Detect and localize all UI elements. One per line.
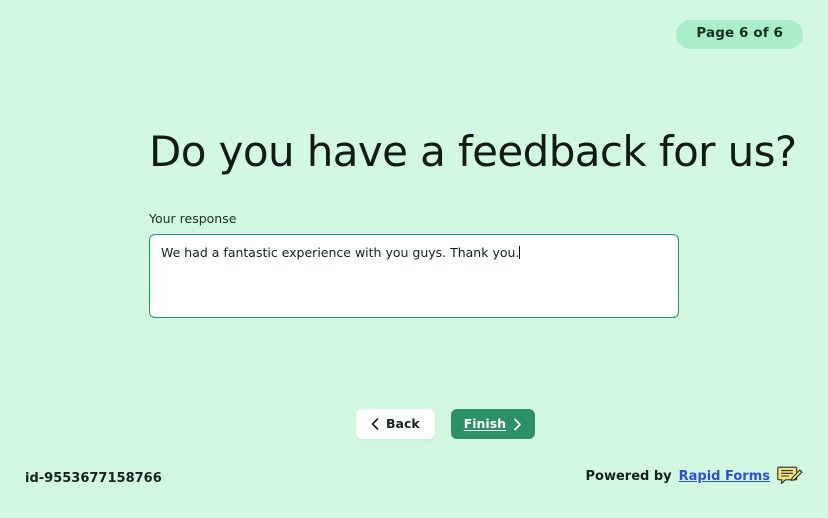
chevron-right-icon (513, 418, 522, 431)
response-textarea[interactable]: We had a fantastic experience with you g… (149, 234, 679, 318)
chevron-left-icon (371, 418, 379, 430)
page-indicator-badge: Page 6 of 6 (676, 20, 803, 49)
finish-button[interactable]: Finish (451, 409, 535, 439)
form-content: Do you have a feedback for us? Your resp… (149, 128, 679, 318)
form-id-text: id-9553677158766 (25, 472, 162, 485)
response-field-group: Your response We had a fantastic experie… (149, 213, 679, 318)
rapid-forms-link[interactable]: Rapid Forms (679, 470, 770, 483)
text-caret (519, 246, 520, 259)
footer-branding: Powered by Rapid Forms (586, 464, 803, 488)
page-title: Do you have a feedback for us? (149, 128, 679, 175)
back-button[interactable]: Back (356, 409, 435, 439)
finish-button-label: Finish (464, 418, 506, 431)
wizard-nav: Back Finish (356, 409, 535, 439)
speech-bubble-pencil-icon (777, 464, 803, 488)
response-field-label: Your response (149, 213, 679, 226)
response-text-value: We had a fantastic experience with you g… (161, 245, 519, 260)
back-button-label: Back (386, 418, 420, 431)
powered-by-label: Powered by (586, 470, 672, 483)
